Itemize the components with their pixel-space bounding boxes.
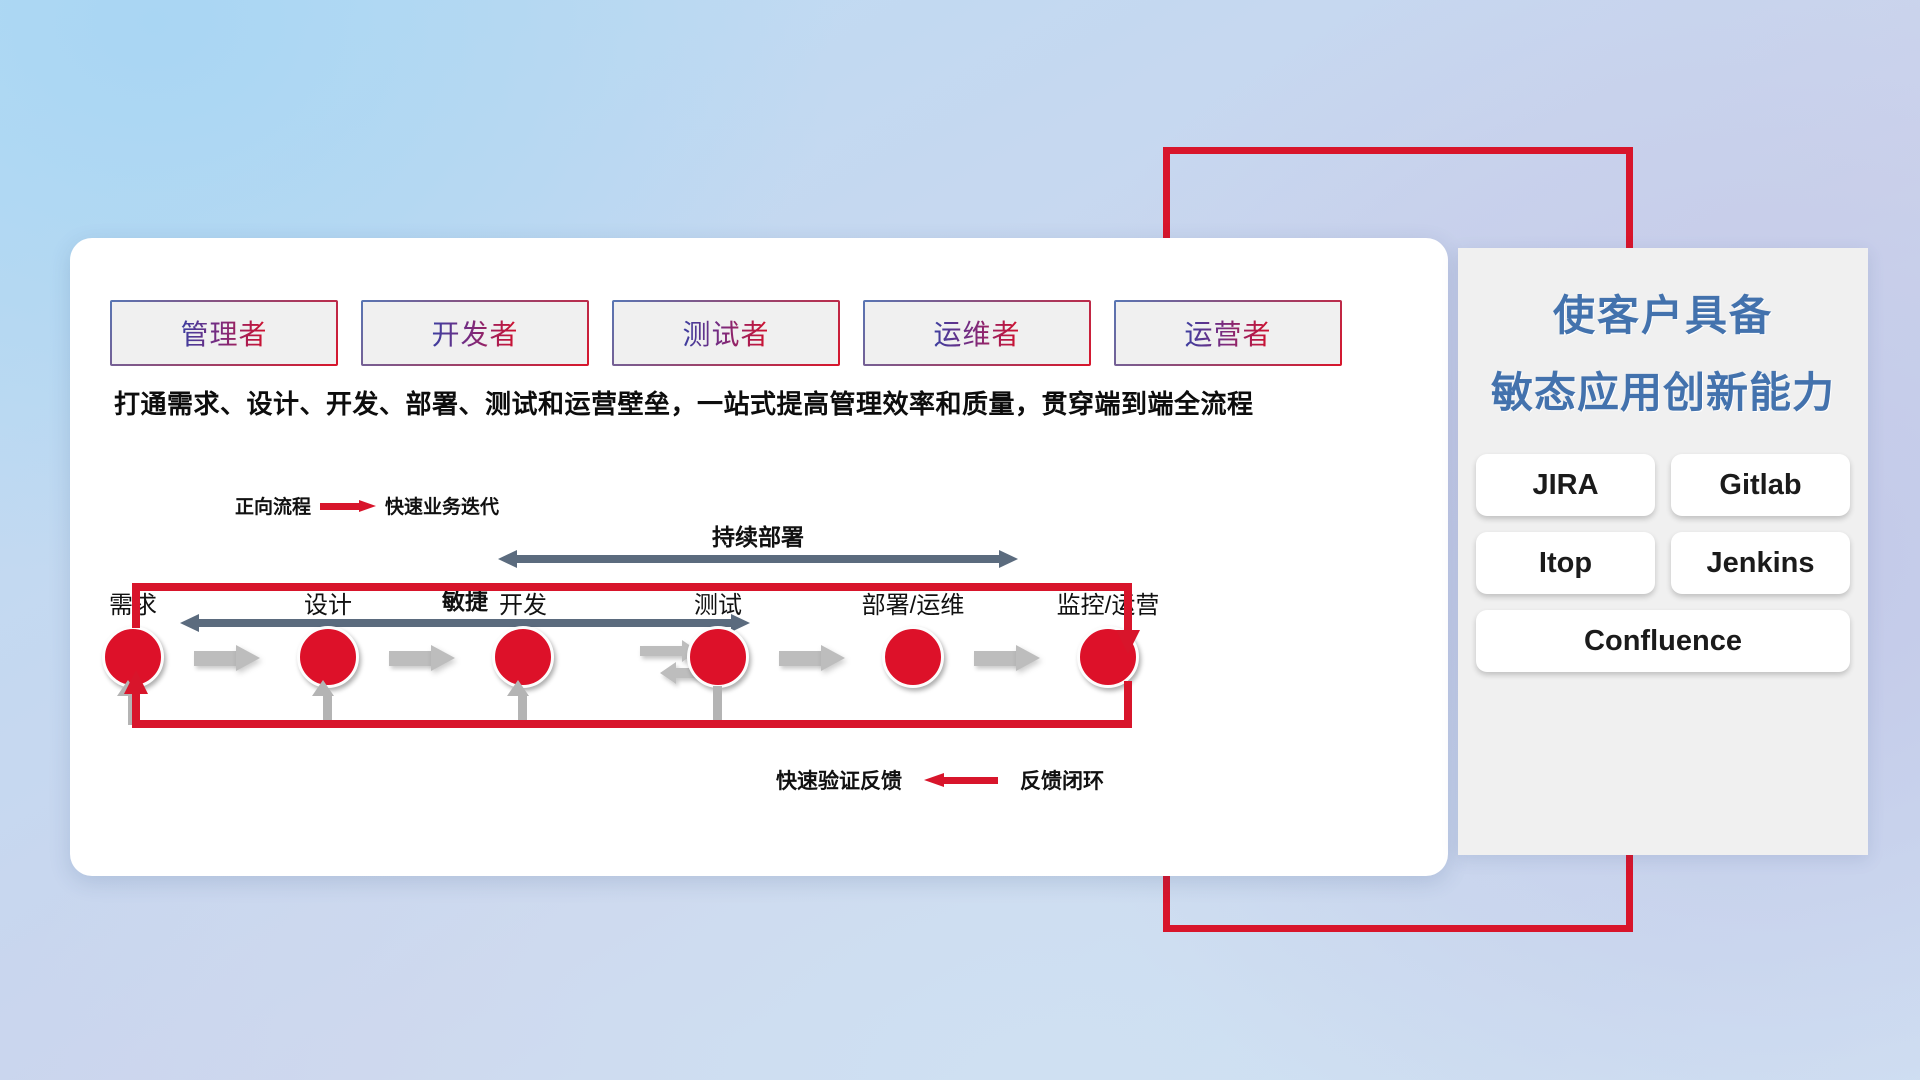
- feedback-loop-bottom-left: [132, 693, 140, 728]
- feedback-loop-bottom: [132, 720, 1132, 728]
- tool-pill-gitlab[interactable]: Gitlab: [1671, 454, 1850, 516]
- tools-panel: 使客户具备 敏态应用创新能力 JIRA Gitlab Itop Jenkins …: [1458, 248, 1868, 855]
- stage-node-circle: [297, 626, 359, 688]
- red-left-arrow-icon: [924, 773, 998, 787]
- flow-arrow-icon: [194, 645, 260, 671]
- main-content-card: 管理者 开发者 测试者 运维者 运营者 打通需求、设计、开发、部署、测试和运营壁…: [70, 238, 1448, 876]
- flow-arrow-icon: [779, 645, 845, 671]
- tool-pill-confluence[interactable]: Confluence: [1476, 610, 1850, 672]
- pipeline-track: 需求 设计 开发: [70, 238, 1448, 876]
- flow-arrow-icon: [974, 645, 1040, 671]
- stage-node-circle: [492, 626, 554, 688]
- red-up-arrowhead-icon: [124, 670, 148, 694]
- flow-arrow-icon: [389, 645, 455, 671]
- feedback-loop-top: [132, 583, 1132, 591]
- legend-feedback-from-label: 反馈闭环: [1020, 765, 1104, 795]
- stage-node-circle: [687, 626, 749, 688]
- legend-feedback-loop: 快速验证反馈 反馈闭环: [776, 765, 1104, 795]
- feedback-loop-top-left: [132, 583, 140, 628]
- pipeline-stage-development[interactable]: 开发: [492, 626, 554, 688]
- legend-feedback-to-label: 快速验证反馈: [776, 765, 902, 795]
- panel-heading-line-1: 使客户具备: [1458, 282, 1868, 343]
- pipeline-stage-testing[interactable]: 测试: [687, 626, 749, 688]
- tool-pill-itop[interactable]: Itop: [1476, 532, 1655, 594]
- pipeline-stage-deploy-ops[interactable]: 部署/运维: [882, 626, 944, 688]
- stage-node-circle: [882, 626, 944, 688]
- bracket-top-segment: [1163, 147, 1633, 154]
- tool-pill-grid: JIRA Gitlab Itop Jenkins Confluence: [1476, 454, 1850, 672]
- panel-heading-line-2: 敏态应用创新能力: [1458, 359, 1868, 420]
- pipeline-stage-design[interactable]: 设计: [297, 626, 359, 688]
- tool-pill-jenkins[interactable]: Jenkins: [1671, 532, 1850, 594]
- panel-heading: 使客户具备 敏态应用创新能力: [1458, 282, 1868, 420]
- feedback-loop-top-right: [1124, 583, 1132, 633]
- feedback-loop-bottom-right: [1124, 681, 1132, 728]
- bracket-bottom-segment: [1163, 925, 1633, 932]
- tool-pill-jira[interactable]: JIRA: [1476, 454, 1655, 516]
- red-down-arrowhead-icon: [1116, 630, 1140, 654]
